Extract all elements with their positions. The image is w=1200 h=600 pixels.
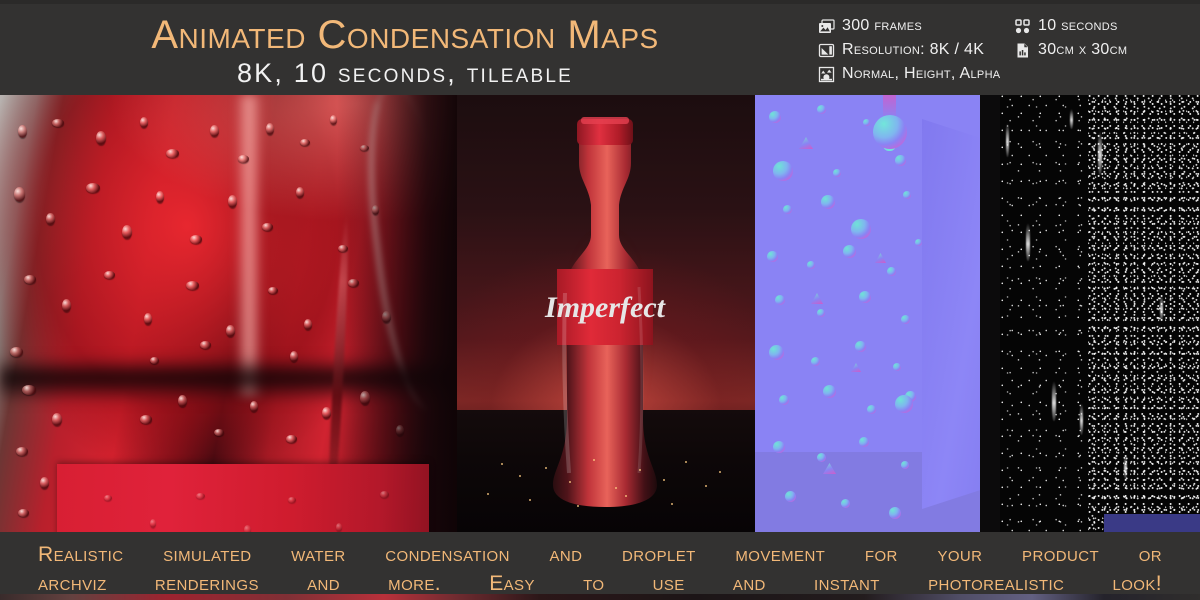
texture-map-icon <box>818 66 835 83</box>
meta-label-maps: Normal, Height, Alpha <box>842 66 1000 82</box>
normal-map-large-droplet <box>873 115 907 149</box>
caption-bar: Realistic simulated water condensation a… <box>0 532 1200 594</box>
stacked-frames-icon <box>818 18 835 35</box>
meta-item-duration: 10 seconds <box>1014 14 1200 38</box>
four-dots-grid-icon <box>1014 18 1031 35</box>
meta-label-resolution: Resolution: 8K / 4K <box>842 42 984 58</box>
meta-item-maps: Normal, Height, Alpha <box>818 62 1014 86</box>
promo-banner: Animated Condensation Maps 8K, 10 second… <box>0 0 1200 600</box>
meta-label-duration: 10 seconds <box>1038 18 1118 34</box>
meta-item-resolution: Resolution: 8K / 4K <box>818 38 1014 62</box>
gallery-panel-alpha-height-map-preview[interactable] <box>1000 95 1200 532</box>
alpha-map-noise-left <box>1000 95 1088 532</box>
title-block: Animated Condensation Maps 8K, 10 second… <box>0 4 810 95</box>
bottom-image-sliver <box>0 594 1200 600</box>
document-size-icon <box>1014 42 1031 59</box>
label-droplets <box>0 95 457 532</box>
metadata-specs: 300 frames 10 seconds <box>818 14 1200 94</box>
alpha-map-bottom-accent <box>1104 514 1200 532</box>
meta-label-frames: 300 frames <box>842 18 922 34</box>
header-bar: Animated Condensation Maps 8K, 10 second… <box>0 0 1200 95</box>
meta-item-frames: 300 frames <box>818 14 1014 38</box>
meta-item-dimensions: 30cm x 30cm <box>1014 38 1200 62</box>
gallery-panel-normal-map-preview[interactable] <box>755 95 1000 532</box>
preview-gallery: Imperfect <box>0 95 1200 532</box>
page-title: Animated Condensation Maps <box>151 15 658 55</box>
normal-map-edge <box>980 95 1000 532</box>
table-sparkles <box>457 95 755 532</box>
caption-line-1: Realistic simulated water condensation a… <box>38 540 1162 569</box>
gallery-panel-red-bottle-condensation-macro[interactable] <box>0 95 457 532</box>
meta-label-dimensions: 30cm x 30cm <box>1038 42 1127 58</box>
gallery-panel-glass-bottle-product-shot[interactable]: Imperfect <box>457 95 755 532</box>
page-subtitle: 8K, 10 seconds, tileable <box>237 60 573 87</box>
layers-resolution-icon <box>818 42 835 59</box>
alpha-map-noise-right <box>1088 95 1200 532</box>
